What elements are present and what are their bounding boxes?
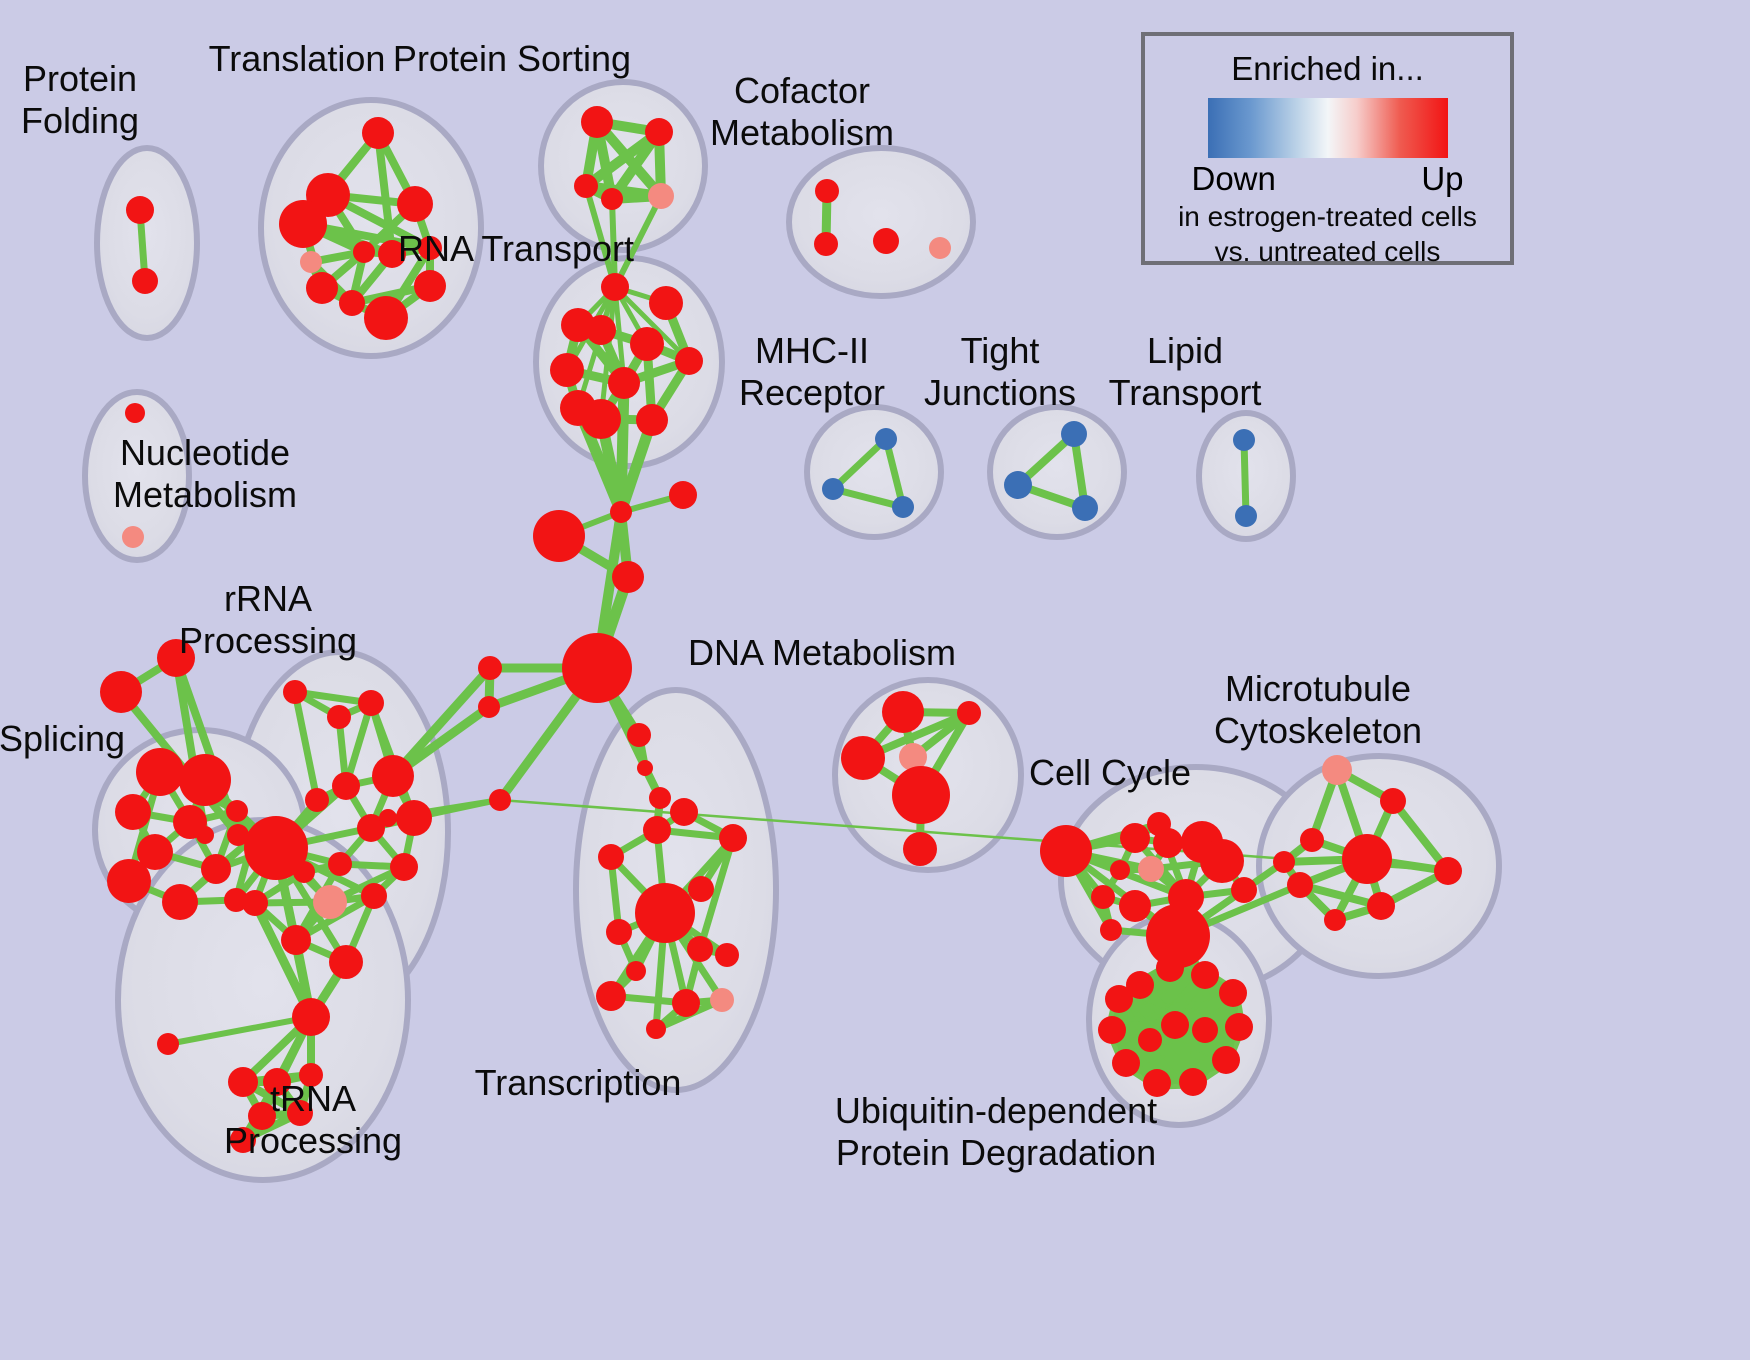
legend-box: Enriched in... Down Up in estrogen-treat… bbox=[1141, 32, 1514, 265]
hull-protein-sorting bbox=[541, 82, 705, 250]
cluster-label-cell-cycle: Cell Cycle bbox=[1029, 752, 1191, 794]
cluster-label-protein-folding: Protein Folding bbox=[21, 58, 139, 142]
legend-title: Enriched in... bbox=[1145, 50, 1510, 88]
cluster-label-transcription: Transcription bbox=[475, 1062, 682, 1104]
enrichment-network-figure: Protein Folding Translation Protein Sort… bbox=[0, 0, 1750, 1360]
cluster-label-protein-sorting: Protein Sorting bbox=[393, 38, 631, 80]
cluster-label-splicing: Splicing bbox=[0, 718, 125, 760]
legend-low-label: Down bbox=[1192, 160, 1276, 198]
hull-cofactor bbox=[789, 148, 973, 296]
legend-endpoints: Down Up bbox=[1192, 160, 1464, 198]
cluster-label-tight-junctions: Tight Junctions bbox=[924, 330, 1076, 414]
hull-tight-junctions bbox=[990, 407, 1124, 537]
cluster-label-dna-metabolism: DNA Metabolism bbox=[688, 632, 956, 674]
legend-color-gradient-bar bbox=[1208, 98, 1448, 158]
cluster-label-ubiquitin-protein-degradation: Ubiquitin-dependent Protein Degradation bbox=[835, 1090, 1157, 1174]
cluster-label-lipid-transport: Lipid Transport bbox=[1109, 330, 1262, 414]
cluster-label-rna-transport: RNA Transport bbox=[398, 228, 634, 270]
cluster-label-trna-processing: tRNA Processing bbox=[224, 1078, 402, 1162]
cluster-label-rrna-processing: rRNA Processing bbox=[179, 578, 357, 662]
cluster-label-nucleotide-metabolism: Nucleotide Metabolism bbox=[113, 432, 297, 516]
legend-high-label: Up bbox=[1421, 160, 1463, 198]
legend-caption-line-2: vs. untreated cells bbox=[1145, 235, 1510, 268]
legend-caption-line-1: in estrogen-treated cells bbox=[1145, 200, 1510, 233]
cluster-label-cofactor-metabolism: Cofactor Metabolism bbox=[710, 70, 894, 154]
cluster-label-microtubule-cytoskeleton: Microtubule Cytoskeleton bbox=[1214, 668, 1422, 752]
hull-mhc bbox=[807, 407, 941, 537]
hull-protein-folding bbox=[97, 148, 197, 338]
cluster-label-mhc-ii-receptor: MHC-II Receptor bbox=[739, 330, 885, 414]
cluster-label-translation: Translation bbox=[209, 38, 386, 80]
